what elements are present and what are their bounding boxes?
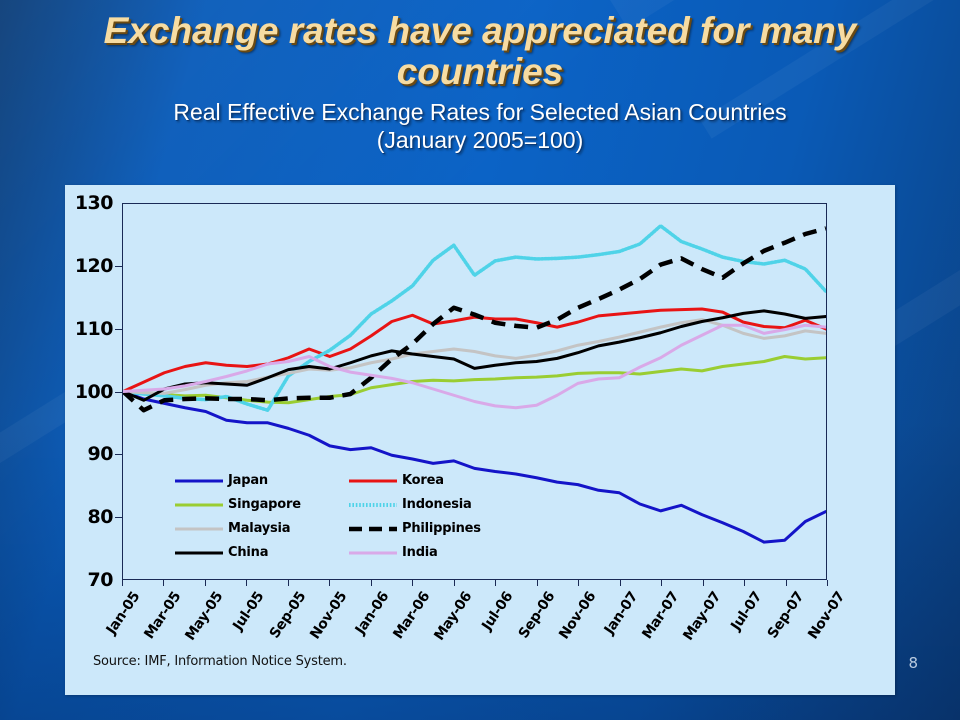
chart-subtitle-line1: Real Effective Exchange Rates for Select… <box>0 99 960 127</box>
x-axis-tick-mark <box>620 580 621 586</box>
series-line-malaysia <box>123 320 826 394</box>
legend-swatch-malaysia <box>175 522 223 536</box>
y-axis-tick-label: 100 <box>75 381 113 403</box>
x-axis-tick-label: May-05 <box>182 589 226 644</box>
x-axis-tick-mark <box>246 580 247 586</box>
y-axis-tick-label: 90 <box>88 443 113 465</box>
page-number: 8 <box>908 654 918 672</box>
legend-label: Singapore <box>228 497 301 512</box>
chart-legend: JapanKoreaSingaporeIndonesiaMalaysiaPhil… <box>175 473 505 560</box>
legend-label: Philippines <box>402 521 481 536</box>
legend-swatch-japan <box>175 474 223 488</box>
x-axis-tick-label: May-07 <box>680 589 724 644</box>
legend-item-indonesia[interactable]: Indonesia <box>349 497 505 512</box>
x-axis-tick-label: Sep-05 <box>267 589 310 641</box>
x-axis-tick-label: May-06 <box>431 589 475 644</box>
y-axis-tick-label: 70 <box>88 569 113 591</box>
y-axis-tick-label: 80 <box>88 506 113 528</box>
x-axis-tick-mark <box>744 580 745 586</box>
x-axis-tick-mark <box>288 580 289 586</box>
x-axis-tick-mark <box>454 580 455 586</box>
x-axis-tick-label: Jul-06 <box>479 589 516 633</box>
legend-item-japan[interactable]: Japan <box>175 473 331 488</box>
x-axis-tick-label: Jan-07 <box>601 589 641 637</box>
x-axis-tick-mark <box>495 580 496 586</box>
x-axis-tick-label: Mar-06 <box>391 589 434 642</box>
x-axis-tick-mark <box>412 580 413 586</box>
y-axis-tick-label: 130 <box>75 192 113 214</box>
x-axis-tick-label: Jan-06 <box>352 589 392 637</box>
x-axis-tick-mark <box>537 580 538 586</box>
legend-label: Malaysia <box>228 521 290 536</box>
x-axis-tick-mark <box>371 580 372 586</box>
legend-label: Korea <box>402 473 444 488</box>
x-axis-tick-mark <box>329 580 330 586</box>
x-axis-tick-label: Mar-07 <box>639 589 682 642</box>
legend-swatch-india <box>349 546 397 560</box>
x-axis-tick-label: Sep-07 <box>764 589 807 641</box>
legend-item-singapore[interactable]: Singapore <box>175 497 331 512</box>
y-axis-tick-label: 120 <box>75 255 113 277</box>
x-axis-tick-label: Jan-05 <box>103 589 143 637</box>
source-note: Source: IMF, Information Notice System. <box>93 654 347 669</box>
y-axis-tick-mark <box>115 392 122 393</box>
legend-label: Japan <box>228 473 268 488</box>
legend-swatch-singapore <box>175 498 223 512</box>
legend-label: Indonesia <box>402 497 472 512</box>
y-axis-tick-mark <box>115 517 122 518</box>
x-axis-tick-mark <box>661 580 662 586</box>
legend-item-korea[interactable]: Korea <box>349 473 505 488</box>
x-axis-tick-label: Mar-05 <box>142 589 185 642</box>
chart-subtitle-line2: (January 2005=100) <box>0 127 960 155</box>
x-axis-tick-mark <box>827 580 828 586</box>
x-axis-tick-mark <box>205 580 206 586</box>
legend-label: India <box>402 545 438 560</box>
x-axis-tick-mark <box>578 580 579 586</box>
legend-swatch-korea <box>349 474 397 488</box>
chart-panel: 708090100110120130 Jan-05Mar-05May-05Jul… <box>65 185 895 695</box>
x-axis-tick-label: Nov-06 <box>556 589 599 642</box>
legend-swatch-china <box>175 546 223 560</box>
legend-swatch-indonesia <box>349 498 397 512</box>
x-axis-tick-mark <box>786 580 787 586</box>
x-axis-tick-label: Nov-07 <box>805 589 848 642</box>
legend-label: China <box>228 545 268 560</box>
x-axis-tick-mark <box>122 580 123 586</box>
x-axis-tick-label: Jul-05 <box>230 589 267 633</box>
x-axis-tick-label: Jul-07 <box>728 589 765 633</box>
legend-item-china[interactable]: China <box>175 545 331 560</box>
y-axis-tick-mark <box>115 266 122 267</box>
legend-item-philippines[interactable]: Philippines <box>349 521 505 536</box>
page-title: Exchange rates have appreciated for many… <box>0 10 960 93</box>
x-axis-tick-label: Sep-06 <box>515 589 558 641</box>
x-axis-tick-mark <box>163 580 164 586</box>
legend-swatch-philippines <box>349 522 397 536</box>
x-axis-tick-label: Nov-05 <box>308 589 351 642</box>
y-axis-tick-mark <box>115 329 122 330</box>
legend-item-india[interactable]: India <box>349 545 505 560</box>
legend-item-malaysia[interactable]: Malaysia <box>175 521 331 536</box>
y-axis-tick-label: 110 <box>75 318 113 340</box>
x-axis-tick-mark <box>703 580 704 586</box>
y-axis-tick-mark <box>115 454 122 455</box>
title-block: Exchange rates have appreciated for many… <box>0 10 960 155</box>
